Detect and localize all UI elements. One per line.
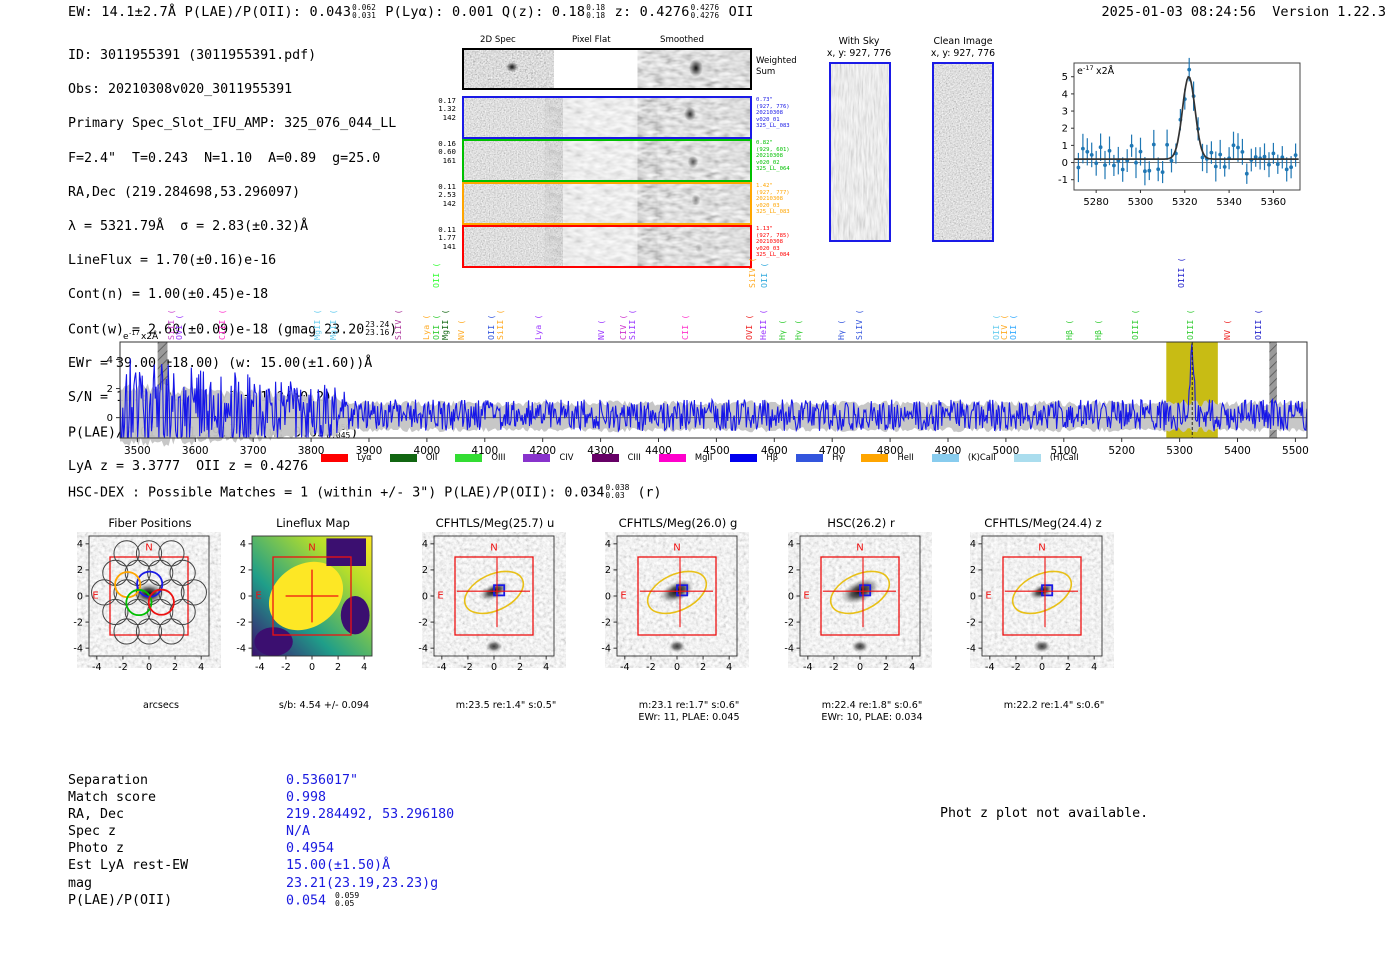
svg-text:-1: -1: [1058, 175, 1068, 186]
emission-line-label: Hγ (: [836, 319, 846, 340]
legend-item: OII: [390, 452, 438, 462]
svg-text:E: E: [803, 590, 809, 601]
full-spectrum-plot: 0243500360037003800390040004100420043004…: [0, 280, 1400, 470]
legend-item: (H)CaII: [1014, 452, 1079, 462]
svg-text:2: 2: [240, 565, 246, 576]
svg-text:-2: -2: [966, 617, 976, 628]
svg-text:0: 0: [674, 662, 680, 673]
legend-swatch: [932, 454, 959, 462]
table-value: 0.4954: [286, 841, 334, 856]
svg-text:4: 4: [726, 662, 732, 673]
table-value: 15.00(±1.50)Å: [286, 858, 390, 873]
header-ew-plae: EW: 14.1±2.7Å P(LAE)/P(OII): 0.043: [68, 4, 351, 20]
cutout-caption-primary: m:22.2 re:1.4" s:0.6": [970, 700, 1138, 712]
cutout-title: CFHTLS/Meg(26.0) g: [583, 516, 773, 532]
legend-item: HeII: [861, 452, 913, 462]
table-key: Spec z: [68, 823, 286, 840]
table-row: Match score0.998: [68, 789, 454, 806]
legend-swatch: [523, 454, 550, 462]
svg-text:5320: 5320: [1172, 197, 1197, 208]
cutout-title: Lineflux Map: [218, 516, 408, 532]
fiber-row: [462, 225, 752, 268]
svg-text:3: 3: [1062, 107, 1068, 118]
svg-text:2: 2: [107, 384, 113, 395]
svg-text:5300: 5300: [1128, 197, 1153, 208]
with-sky-title: With Sky: [826, 36, 892, 48]
clean-image-title: Clean Image: [928, 36, 998, 48]
legend-label: CIV: [559, 452, 573, 462]
emission-line-label: Lya (: [533, 314, 543, 340]
photz-note: Phot z plot not available.: [940, 806, 1148, 821]
emission-line-label: Hγ (: [777, 319, 787, 340]
table-key: Est LyA rest-EW: [68, 857, 286, 874]
spectrum-legend: Lyα OII OIII CIV CIII MgII Hβ Hγ HeII (K…: [0, 452, 1400, 462]
svg-text:0: 0: [146, 662, 152, 673]
svg-text:-4: -4: [236, 643, 246, 654]
svg-text:2: 2: [700, 662, 706, 673]
svg-text:-17: -17: [1083, 64, 1094, 72]
match-plae-bounds: 0.0590.05: [335, 892, 359, 909]
legend-swatch: [659, 454, 686, 462]
legend-label: OIII: [491, 452, 505, 462]
emission-line-label: Hγ (: [793, 319, 803, 340]
legend-swatch: [592, 454, 619, 462]
emission-line-label: MgII (: [328, 309, 338, 340]
fiber-right-meta: 1.13"(927, 785)20210308v020_03325_LL_084: [756, 226, 808, 259]
svg-text:0: 0: [309, 662, 315, 673]
svg-text:N: N: [856, 542, 863, 553]
svg-text:4: 4: [1091, 662, 1097, 673]
cutout-caption-primary: m:23.1 re:1.7" s:0.6": [605, 700, 773, 712]
emission-line-label: OIII (: [1176, 257, 1186, 288]
svg-text:-2: -2: [236, 617, 246, 628]
svg-text:5340: 5340: [1216, 197, 1241, 208]
legend-swatch: [730, 454, 757, 462]
emission-line-label: OVI (: [744, 314, 754, 340]
svg-text:0: 0: [422, 591, 428, 602]
cutout-panel: Lineflux Map NE-4-4-2-2002244s/b: 4.54 +…: [218, 516, 408, 712]
plae-bounds: 0.0620.031: [352, 4, 376, 20]
version: Version 1.22.3: [1272, 4, 1386, 20]
svg-text:-2: -2: [829, 662, 839, 673]
info-obs: Obs: 20210308v020_3011955391: [68, 81, 397, 98]
table-key: mag: [68, 875, 286, 892]
svg-text:-2: -2: [281, 662, 291, 673]
table-row: P(LAE)/P(OII)0.054 0.0590.05: [68, 892, 454, 910]
svg-text:2: 2: [1062, 124, 1068, 135]
legend-label: MgII: [695, 452, 712, 462]
cutout-title: CFHTLS/Meg(25.7) u: [400, 516, 590, 532]
cutout-caption-primary: m:22.4 re:1.8" s:0.6": [788, 700, 956, 712]
legend-item: MgII: [659, 452, 713, 462]
svg-text:-4: -4: [92, 662, 102, 673]
table-value: 0.998: [286, 790, 326, 805]
fiber-right-meta: 0.82"(929, 601)20210308v020_02325_LL_064: [756, 140, 808, 173]
svg-text:0: 0: [605, 591, 611, 602]
svg-text:0: 0: [77, 591, 83, 602]
emission-line-label: NV (: [596, 319, 606, 340]
svg-text:-4: -4: [803, 662, 813, 673]
weighted-sum-label: Weighted Sum: [756, 56, 802, 78]
legend-label: (K)CaII: [968, 452, 996, 462]
qz-bounds: 0.180.18: [586, 4, 605, 20]
legend-label: (H)CaII: [1050, 452, 1079, 462]
table-value: 23.21(23.19,23.23)g: [286, 876, 438, 891]
emission-line-label: SiII (: [627, 309, 637, 340]
svg-text:4: 4: [240, 539, 246, 550]
table-key: Photo z: [68, 840, 286, 857]
svg-text:2: 2: [172, 662, 178, 673]
svg-text:5: 5: [1062, 72, 1068, 83]
svg-text:1: 1: [1062, 141, 1068, 152]
spec2d-title-pixelflat: Pixel Flat: [572, 35, 611, 45]
svg-text:-2: -2: [646, 662, 656, 673]
header-plya-qz: P(Lyα): 0.001 Q(z): 0.18: [385, 4, 585, 20]
emission-line-label: MgII (: [440, 309, 450, 340]
cutout-title: HSC(26.2) r: [766, 516, 956, 532]
cutout-caption-secondary: EWr: 10, PLAE: 0.034: [788, 712, 956, 724]
svg-text:-4: -4: [73, 643, 83, 654]
table-value: N/A: [286, 824, 310, 839]
table-row: mag23.21(23.19,23.23)g: [68, 875, 454, 892]
emission-line-label: MgII (: [312, 309, 322, 340]
svg-text:E: E: [255, 590, 261, 601]
svg-text:0: 0: [857, 662, 863, 673]
svg-text:-4: -4: [601, 643, 611, 654]
svg-text:4: 4: [361, 662, 367, 673]
emission-line-label: CII (: [680, 314, 690, 340]
svg-text:0: 0: [491, 662, 497, 673]
emission-line-label: CIII (: [217, 309, 227, 340]
cutout-caption-primary: m:23.5 re:1.4" s:0.5": [422, 700, 590, 712]
svg-text:0: 0: [240, 591, 246, 602]
emission-line-label: SiIV (: [393, 309, 403, 340]
svg-text:E: E: [985, 590, 991, 601]
cutout-panel: HSC(26.2) r NE-4-4-2-2002244m:22.4 re:1.…: [766, 516, 956, 724]
cutout-image: NE-4-4-2-2002244: [400, 532, 590, 700]
svg-text:4: 4: [422, 539, 428, 550]
info-params: F=2.4" T=0.243 N=1.10 A=0.89 g=25.0: [68, 150, 397, 167]
svg-text:x2Å: x2Å: [1096, 65, 1115, 77]
cutout-caption-primary: s/b: 4.54 +/- 0.094: [240, 700, 408, 712]
svg-text:-2: -2: [118, 662, 128, 673]
svg-text:4: 4: [1062, 89, 1068, 100]
svg-text:4: 4: [543, 662, 549, 673]
legend-item: (K)CaII: [932, 452, 996, 462]
z-bounds: 0.42760.4276: [691, 4, 720, 20]
hscdex-summary: HSC-DEX : Possible Matches = 1 (within +…: [68, 484, 662, 501]
legend-swatch: [1014, 454, 1041, 462]
info-lineflux: LineFlux = 1.70(±0.16)e-16: [68, 252, 397, 269]
svg-text:2: 2: [1065, 662, 1071, 673]
legend-swatch: [390, 454, 417, 462]
legend-label: Lyα: [357, 452, 371, 462]
legend-label: Hβ: [766, 452, 778, 462]
svg-text:E: E: [437, 590, 443, 601]
table-key: P(LAE)/P(OII): [68, 892, 286, 909]
svg-text:4: 4: [605, 539, 611, 550]
emission-line-label: NV (: [1222, 319, 1232, 340]
svg-text:2: 2: [77, 565, 83, 576]
info-primary-slot: Primary Spec_Slot_IFU_AMP: 325_076_044_L…: [68, 115, 397, 132]
svg-text:0: 0: [1039, 662, 1045, 673]
emission-line-label: Lya (: [421, 314, 431, 340]
cutout-panel: CFHTLS/Meg(25.7) u NE-4-4-2-2002244m:23.…: [400, 516, 590, 712]
fiber-left-stats: 0.111.77141: [428, 226, 456, 251]
svg-text:2: 2: [422, 565, 428, 576]
table-row: Photo z0.4954: [68, 840, 454, 857]
svg-text:4: 4: [198, 662, 204, 673]
svg-text:4: 4: [77, 539, 83, 550]
timestamp: 2025-01-03 08:24:56: [1102, 4, 1256, 20]
fiber-right-meta: 1.42"(927, 777)20210308v020_03325_LL_083: [756, 183, 808, 216]
svg-text:4: 4: [788, 539, 794, 550]
svg-text:N: N: [490, 542, 497, 553]
emission-line-label: SiIV (: [747, 257, 757, 288]
cutout-title: Fiber Positions: [55, 516, 245, 532]
svg-text:N: N: [308, 542, 315, 553]
fiber-row: [462, 139, 752, 182]
cutout-caption-secondary: EWr: 11, PLAE: 0.045: [605, 712, 773, 724]
svg-text:4: 4: [909, 662, 915, 673]
emission-line-label: OIII (: [1253, 309, 1263, 340]
emission-line-label: SiII (: [495, 309, 505, 340]
table-value: 0.054: [286, 893, 326, 908]
svg-text:-4: -4: [620, 662, 630, 673]
table-row: Spec zN/A: [68, 823, 454, 840]
legend-swatch: [796, 454, 823, 462]
svg-text:N: N: [145, 542, 152, 553]
table-row: Separation0.536017": [68, 772, 454, 789]
cutout-image: NE-4-4-2-2002244: [55, 532, 245, 700]
spec2d-title-smoothed: Smoothed: [660, 35, 704, 45]
svg-text:0: 0: [1062, 158, 1068, 169]
svg-text:-2: -2: [784, 617, 794, 628]
legend-label: Hγ: [832, 452, 843, 462]
svg-text:2: 2: [517, 662, 523, 673]
header-z: z: 0.4276: [615, 4, 690, 20]
header-summary: EW: 14.1±2.7Å P(LAE)/P(OII): 0.0430.0620…: [68, 4, 754, 20]
emission-line-label: OIII (: [1185, 309, 1195, 340]
cutout-image: NE-4-4-2-2002244: [218, 532, 408, 700]
table-value: 219.284492, 53.296180: [286, 807, 454, 822]
svg-text:N: N: [673, 542, 680, 553]
info-id: ID: 3011955391 (3011955391.pdf): [68, 47, 397, 64]
cutout-image: NE-4-4-2-2002244: [583, 532, 773, 700]
emission-line-label: NV (: [456, 319, 466, 340]
svg-text:-2: -2: [418, 617, 428, 628]
table-key: RA, Dec: [68, 806, 286, 823]
table-value: 0.536017": [286, 773, 358, 788]
header-z-type: OII: [729, 4, 754, 20]
cutout-image: NE-4-4-2-2002244: [948, 532, 1138, 700]
hscdex-plae-bounds: 0.0380.03: [605, 484, 629, 501]
legend-item: Hβ: [730, 452, 778, 462]
svg-text:4: 4: [107, 355, 113, 366]
svg-text:x2Å: x2Å: [141, 330, 159, 342]
info-lambda-sigma: λ = 5321.79Å σ = 2.83(±0.32)Å: [68, 218, 397, 235]
cutout-panel: Fiber Positions NE-4-4-2-2002244arcsecs: [55, 516, 245, 712]
cutout-panel: CFHTLS/Meg(26.0) g NE-4-4-2-2002244m:23.…: [583, 516, 773, 724]
legend-label: HeII: [897, 452, 913, 462]
svg-text:-4: -4: [418, 643, 428, 654]
svg-text:-2: -2: [1011, 662, 1021, 673]
emission-line-label: OII (: [1008, 314, 1018, 340]
svg-text:-17: -17: [129, 329, 140, 337]
svg-text:-4: -4: [966, 643, 976, 654]
legend-item: Hγ: [796, 452, 843, 462]
fiber-row: [462, 182, 752, 225]
legend-item: CIII: [592, 452, 641, 462]
legend-swatch: [321, 454, 348, 462]
emission-line-label: OIII (: [1130, 309, 1140, 340]
cutout-title: CFHTLS/Meg(24.4) z: [948, 516, 1138, 532]
fiber-left-stats: 0.160.60161: [428, 140, 456, 165]
svg-text:2: 2: [883, 662, 889, 673]
svg-text:2: 2: [605, 565, 611, 576]
svg-text:N: N: [1038, 542, 1045, 553]
svg-text:2: 2: [788, 565, 794, 576]
svg-text:2: 2: [970, 565, 976, 576]
svg-text:-4: -4: [437, 662, 447, 673]
with-sky-coords: x, y: 927, 776: [826, 48, 892, 60]
emission-line-label: SiIV (: [854, 309, 864, 340]
emission-line-label: Hβ (: [1064, 319, 1074, 340]
header-timestamp-version: 2025-01-03 08:24:56 Version 1.22.3: [1102, 4, 1387, 20]
emission-line-label: OII (: [431, 262, 441, 288]
table-key: Separation: [68, 772, 286, 789]
legend-label: OII: [426, 452, 438, 462]
info-radec: RA,Dec (219.284698,53.296097): [68, 184, 397, 201]
table-row: Est LyA rest-EW15.00(±1.50)Å: [68, 857, 454, 874]
svg-text:-2: -2: [73, 617, 83, 628]
legend-item: Lyα: [321, 452, 371, 462]
cutout-panel: CFHTLS/Meg(24.4) z NE-4-4-2-2002244m:22.…: [948, 516, 1138, 712]
svg-text:4: 4: [970, 539, 976, 550]
fiber-right-meta: 0.73"(927, 776)20210308v020_01325_LL_083: [756, 97, 808, 130]
cutout-image: NE-4-4-2-2002244: [766, 532, 956, 700]
emission-line-label: OVI (: [174, 314, 184, 340]
table-row: RA, Dec219.284492, 53.296180: [68, 806, 454, 823]
legend-label: CIII: [628, 452, 641, 462]
svg-text:0: 0: [970, 591, 976, 602]
svg-text:-2: -2: [463, 662, 473, 673]
fiber-left-stats: 0.112.53142: [428, 183, 456, 208]
svg-text:-4: -4: [985, 662, 995, 673]
weighted-sum-strip: [462, 48, 752, 90]
spec2d-title-2dspec: 2D Spec: [480, 35, 516, 45]
legend-item: CIV: [523, 452, 573, 462]
fiber-row: [462, 96, 752, 139]
emission-line-label: HeII (: [758, 309, 768, 340]
svg-text:2: 2: [335, 662, 341, 673]
svg-text:5280: 5280: [1083, 197, 1108, 208]
svg-text:0: 0: [107, 413, 113, 424]
svg-text:-4: -4: [784, 643, 794, 654]
table-key: Match score: [68, 789, 286, 806]
line-fit-plot: -101234552805300532053405360e-17x2Å: [1040, 55, 1306, 220]
svg-text:E: E: [620, 590, 626, 601]
match-details-table: Separation0.536017" Match score0.998 RA,…: [68, 772, 454, 909]
legend-item: OIII: [455, 452, 505, 462]
legend-swatch: [455, 454, 482, 462]
emission-line-label: OII (: [759, 262, 769, 288]
svg-text:-4: -4: [255, 662, 265, 673]
legend-swatch: [861, 454, 888, 462]
emission-line-label: Hβ (: [1093, 319, 1103, 340]
svg-text:0: 0: [788, 591, 794, 602]
svg-text:-2: -2: [601, 617, 611, 628]
clean-image-coords: x, y: 927, 776: [928, 48, 998, 60]
svg-text:5360: 5360: [1261, 197, 1286, 208]
fiber-left-stats: 0.171.32142: [428, 97, 456, 122]
